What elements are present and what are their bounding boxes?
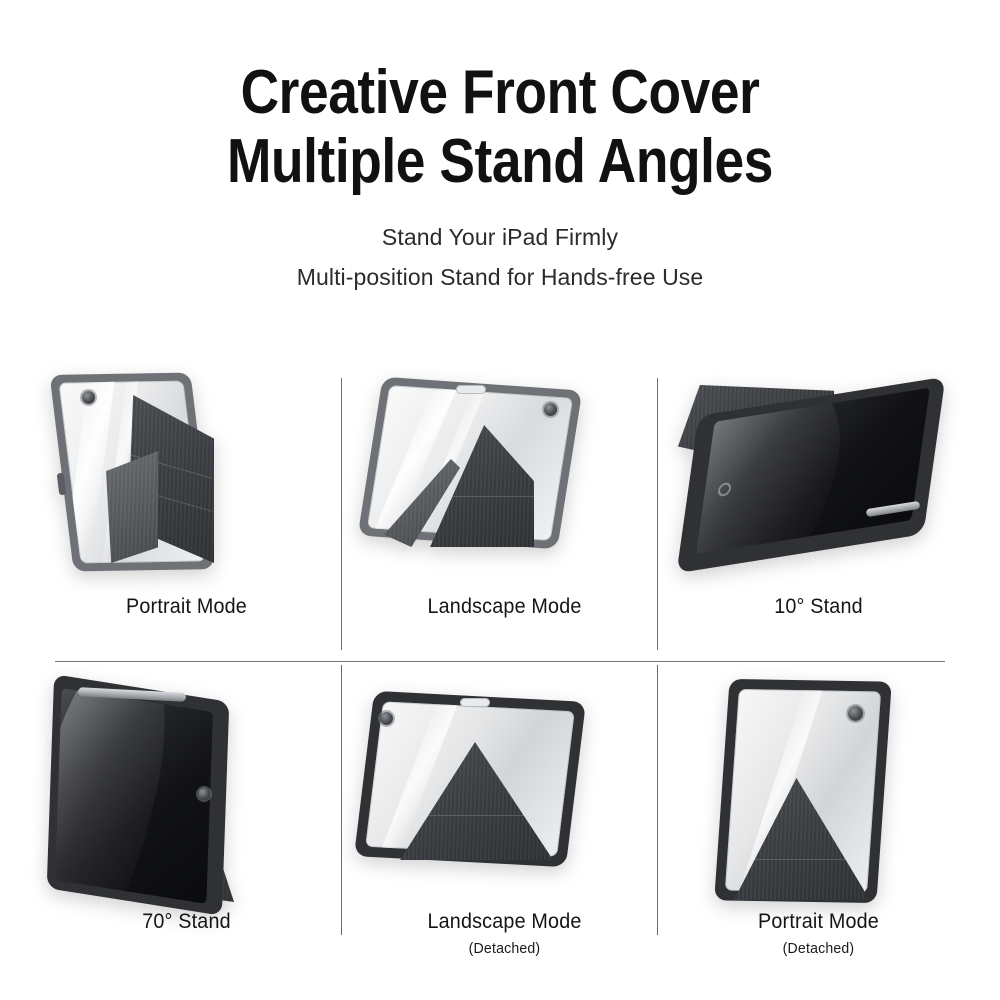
speaker-notch	[456, 385, 486, 394]
caption-text: 70° Stand	[142, 910, 231, 933]
header: Creative Front Cover Multiple Stand Angl…	[0, 58, 1000, 297]
caption-text: Landscape Mode	[427, 595, 581, 618]
grid-cell-seventy-degree-stand: 70° Stand	[20, 670, 353, 934]
camera-cutout-icon	[848, 706, 863, 721]
product-image-seventy-degree-stand	[20, 670, 353, 910]
caption-seventy-degree-stand: 70° Stand	[30, 910, 343, 934]
camera-cutout-icon	[544, 403, 557, 416]
grid-cell-landscape-mode: Landscape Mode	[338, 355, 671, 619]
device-screen	[55, 688, 213, 904]
caption-text: Portrait Mode	[126, 595, 247, 618]
camera-cutout-icon	[380, 712, 393, 725]
caption-text: Landscape Mode	[427, 910, 581, 933]
page-title-line2: Multiple Stand Angles	[70, 127, 930, 196]
caption-sub-text: (Detached)	[348, 940, 661, 957]
caption-ten-degree-stand: 10° Stand	[662, 595, 975, 619]
caption-text: 10° Stand	[774, 595, 863, 618]
product-image-ten-degree-stand	[652, 355, 985, 595]
camera-cutout-icon	[82, 391, 95, 404]
speaker-notch	[460, 698, 490, 707]
product-image-portrait-mode	[20, 355, 353, 595]
camera-cutout-icon	[198, 788, 210, 800]
caption-landscape-mode-detached: Landscape Mode (Detached)	[348, 910, 661, 957]
product-image-landscape-mode-detached	[338, 670, 671, 910]
caption-portrait-mode-detached: Portrait Mode (Detached)	[662, 910, 975, 957]
product-image-portrait-mode-detached	[652, 670, 985, 910]
caption-sub-text: (Detached)	[662, 940, 975, 957]
grid-cell-ten-degree-stand: 10° Stand	[652, 355, 985, 619]
caption-landscape-mode: Landscape Mode	[348, 595, 661, 619]
caption-text: Portrait Mode	[758, 910, 879, 933]
product-image-landscape-mode	[338, 355, 671, 595]
grid-cell-portrait-mode-detached: Portrait Mode (Detached)	[652, 670, 985, 957]
page-title-line1: Creative Front Cover	[70, 58, 930, 127]
subtitle-line2: Multi-position Stand for Hands-free Use	[0, 259, 1000, 297]
grid-divider-horizontal	[55, 661, 945, 662]
subtitle-line1: Stand Your iPad Firmly	[0, 219, 1000, 257]
caption-portrait-mode: Portrait Mode	[30, 595, 343, 619]
grid-cell-landscape-mode-detached: Landscape Mode (Detached)	[338, 670, 671, 957]
feature-grid: Portrait Mode	[0, 345, 1000, 965]
infographic-page: Creative Front Cover Multiple Stand Angl…	[0, 0, 1000, 1000]
grid-cell-portrait-mode: Portrait Mode	[20, 355, 353, 619]
